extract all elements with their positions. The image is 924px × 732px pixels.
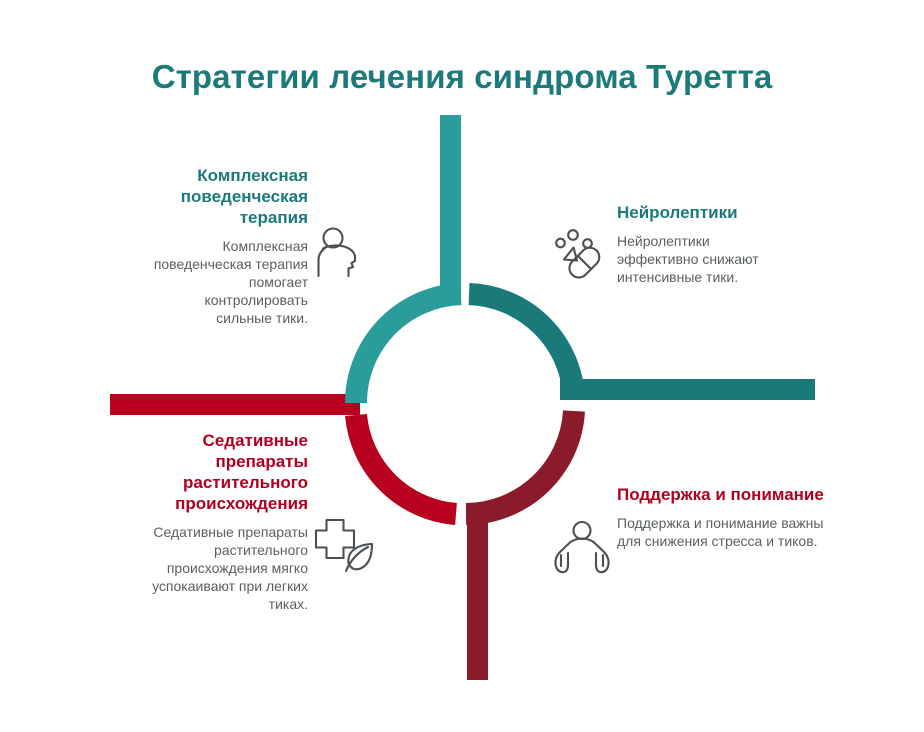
page-title: Стратегии лечения синдрома Туретта	[0, 58, 924, 96]
arm-right	[560, 379, 815, 400]
pills-icon	[552, 226, 608, 282]
block-body-cbt: Комплексная поведенческая терапия помога…	[150, 237, 308, 327]
central-ring-diagram	[0, 0, 924, 732]
block-neuroleptics: Нейролептики Нейролептики эффективно сни…	[617, 202, 793, 286]
block-heading-neuroleptics: Нейролептики	[617, 202, 793, 223]
arm-top	[440, 115, 461, 295]
block-body-neuroleptics: Нейролептики эффективно снижают интенсив…	[617, 232, 793, 286]
ring-quadrant-top-left	[356, 294, 461, 403]
block-body-support: Поддержка и понимание важны для снижения…	[617, 514, 829, 550]
ring-quadrant-bottom-left	[356, 415, 456, 514]
support-hands-icon	[552, 520, 612, 578]
herbal-cross-icon	[312, 516, 378, 574]
ring-quadrant-top-right	[469, 294, 574, 399]
block-support-understanding: Поддержка и понимание Поддержка и понима…	[617, 484, 829, 550]
arm-bottom	[467, 515, 488, 680]
block-heading-herbal: Седативные препараты растительного проис…	[150, 430, 308, 514]
block-complex-behavioral-therapy: Комплексная поведенческая терапия Компле…	[150, 165, 308, 327]
block-herbal-sedatives: Седативные препараты растительного проис…	[150, 430, 308, 613]
mind-head-icon	[312, 226, 362, 278]
block-heading-cbt: Комплексная поведенческая терапия	[150, 165, 308, 228]
block-heading-support: Поддержка и понимание	[617, 484, 829, 505]
arm-left	[110, 394, 360, 415]
ring-quadrant-bottom-right	[466, 411, 574, 514]
block-body-herbal: Седативные препараты растительного проис…	[150, 523, 308, 613]
infographic-canvas: Стратегии лечения синдрома Туретта Компл…	[0, 0, 924, 732]
